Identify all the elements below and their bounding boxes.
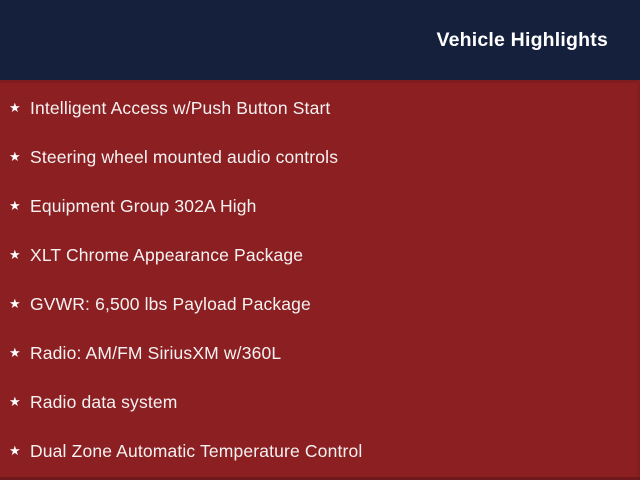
list-item-label: Intelligent Access w/Push Button Start	[30, 97, 330, 119]
list-item-label: GVWR: 6,500 lbs Payload Package	[30, 293, 311, 315]
page-title: Vehicle Highlights	[436, 27, 608, 53]
list-item: ★ XLT Chrome Appearance Package	[0, 230, 640, 279]
star-icon: ★	[9, 346, 21, 359]
slide-header: Vehicle Highlights	[0, 0, 640, 80]
list-item: ★ Steering wheel mounted audio controls	[0, 132, 640, 181]
list-item-label: XLT Chrome Appearance Package	[30, 244, 303, 266]
list-item: ★ Dual Zone Automatic Temperature Contro…	[0, 426, 640, 475]
list-item-label: Equipment Group 302A High	[30, 195, 257, 217]
list-item: ★ Radio: AM/FM SiriusXM w/360L	[0, 328, 640, 377]
list-item: ★ GVWR: 6,500 lbs Payload Package	[0, 279, 640, 328]
star-icon: ★	[9, 101, 21, 114]
star-icon: ★	[9, 444, 21, 457]
star-icon: ★	[9, 150, 21, 163]
highlights-body: ★ Intelligent Access w/Push Button Start…	[0, 80, 640, 480]
star-icon: ★	[9, 297, 21, 310]
list-item-label: Radio: AM/FM SiriusXM w/360L	[30, 342, 281, 364]
list-item: ★ Equipment Group 302A High	[0, 181, 640, 230]
list-item-label: Dual Zone Automatic Temperature Control	[30, 440, 362, 462]
list-item: ★ Radio data system	[0, 377, 640, 426]
list-item-label: Steering wheel mounted audio controls	[30, 146, 338, 168]
star-icon: ★	[9, 395, 21, 408]
vehicle-highlights-slide: Vehicle Highlights ★ Intelligent Access …	[0, 0, 640, 480]
highlights-list: ★ Intelligent Access w/Push Button Start…	[0, 80, 640, 475]
star-icon: ★	[9, 248, 21, 261]
list-item-label: Radio data system	[30, 391, 177, 413]
list-item: ★ Intelligent Access w/Push Button Start	[0, 83, 640, 132]
star-icon: ★	[9, 199, 21, 212]
